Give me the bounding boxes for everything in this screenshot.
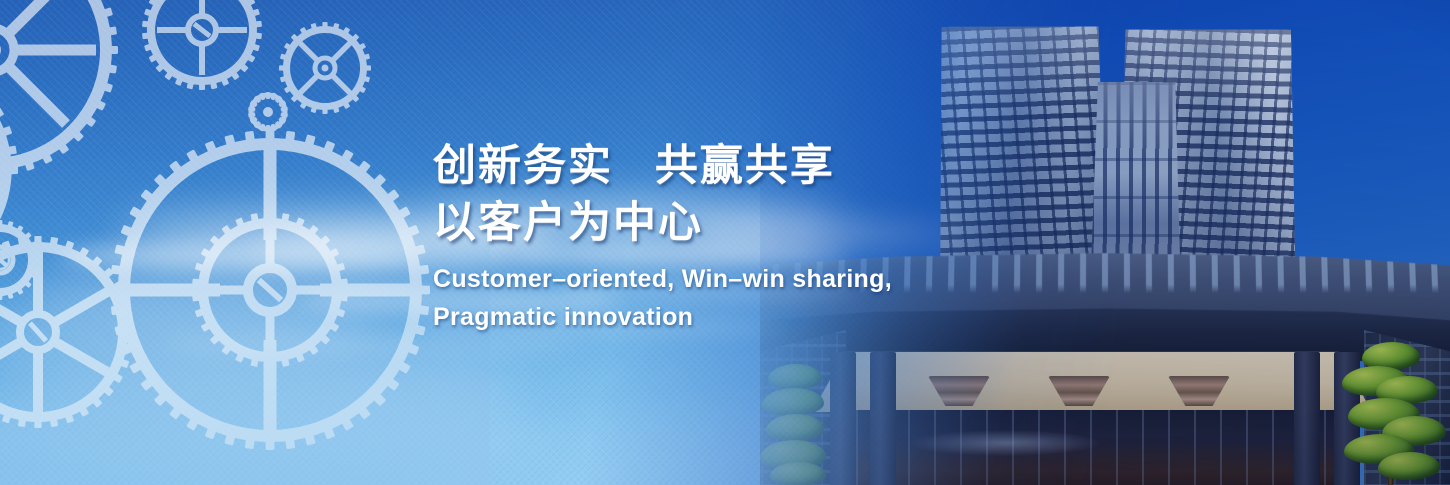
subtitle-line-1: Customer–oriented, Win–win sharing, [433,260,953,298]
subtitle-line-2: Pragmatic innovation [433,298,953,336]
hero-banner: 创新务实 共赢共享 以客户为中心 Customer–oriented, Win–… [0,0,1450,485]
headline-line-2: 以客户为中心 [433,195,953,252]
banner-copy: 创新务实 共赢共享 以客户为中心 Customer–oriented, Win–… [433,138,953,336]
headline-line-1: 创新务实 共赢共享 [433,138,953,195]
